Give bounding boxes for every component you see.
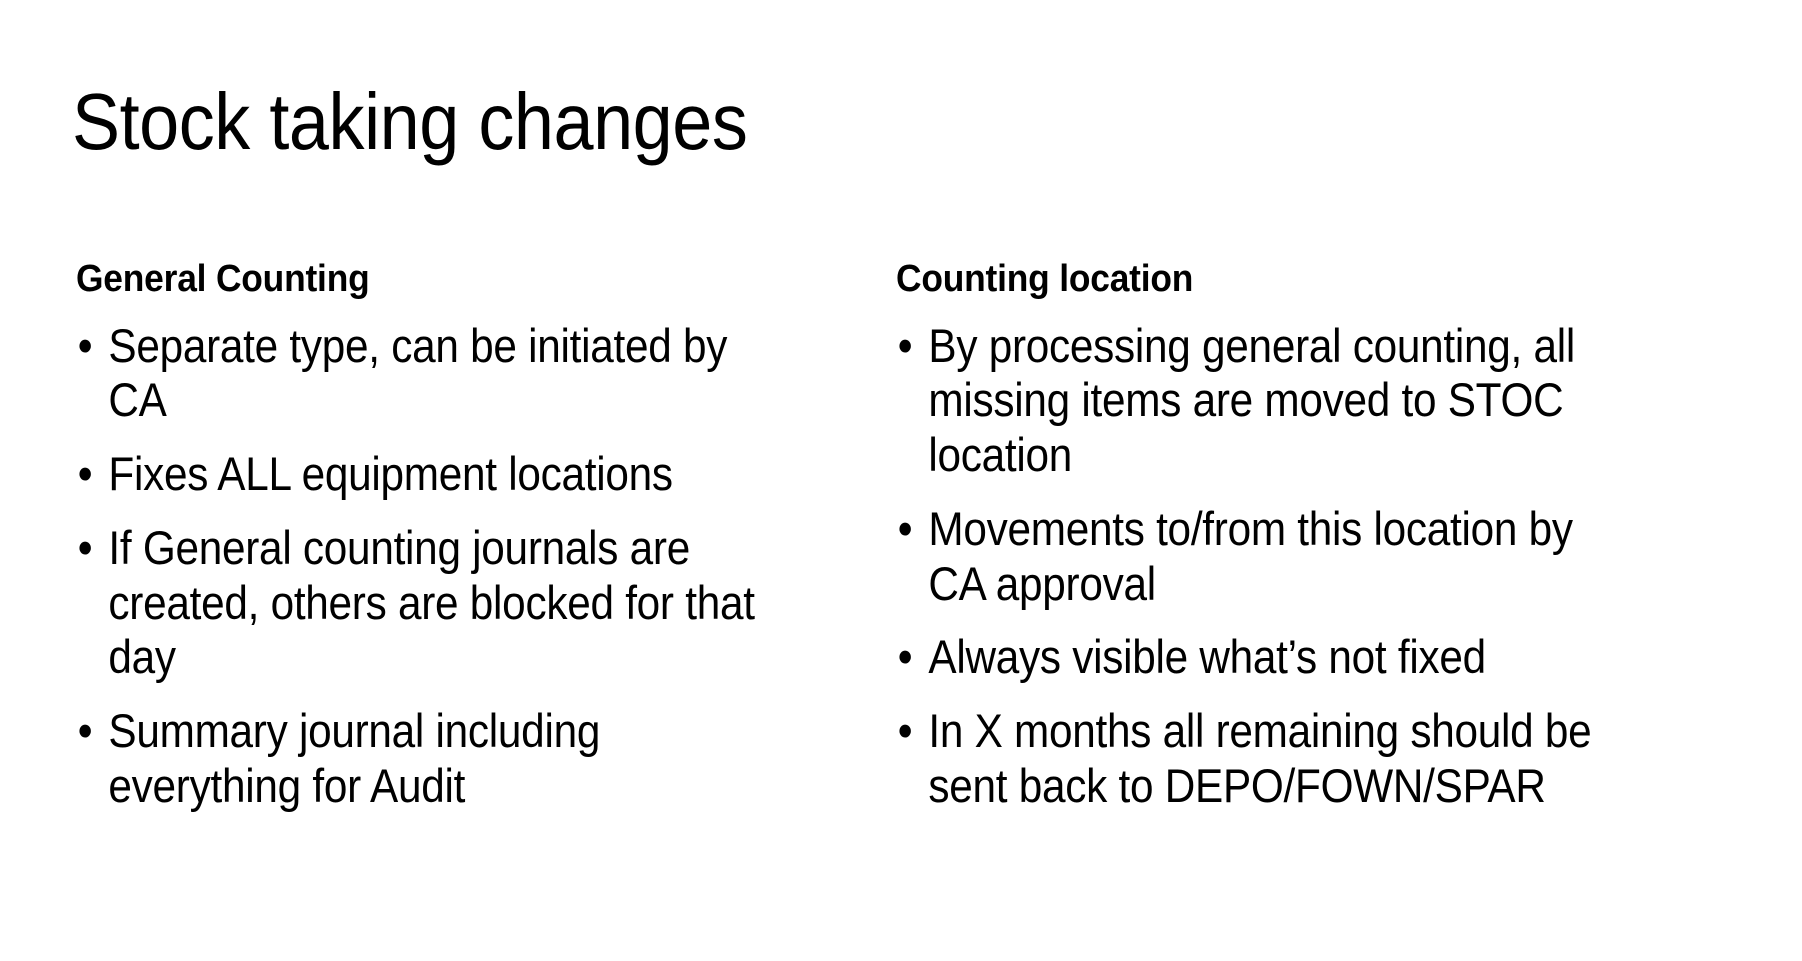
list-item-text: If General counting journals are created… bbox=[108, 521, 763, 685]
list-item: • In X months all remaining should be se… bbox=[896, 704, 1639, 814]
bullet-icon: • bbox=[78, 521, 93, 576]
column-counting-location: Counting location • By processing genera… bbox=[880, 258, 1780, 814]
column-header-general-counting: General Counting bbox=[76, 258, 787, 301]
list-item: • If General counting journals are creat… bbox=[76, 521, 764, 685]
slide-canvas: Stock taking changes General Counting • … bbox=[0, 0, 1802, 961]
list-item: • Fixes ALL equipment locations bbox=[76, 447, 764, 502]
list-item-text: Movements to/from this location by CA ap… bbox=[928, 502, 1639, 612]
bullet-icon: • bbox=[898, 630, 913, 685]
page-title: Stock taking changes bbox=[72, 80, 1566, 165]
bullet-icon: • bbox=[78, 704, 93, 759]
list-item: • By processing general counting, all mi… bbox=[896, 319, 1639, 483]
list-item-text: Separate type, can be initiated by CA bbox=[108, 319, 763, 429]
list-item-text: In X months all remaining should be sent… bbox=[928, 704, 1639, 814]
bullet-icon: • bbox=[898, 502, 913, 557]
bullet-icon: • bbox=[898, 704, 913, 759]
bullet-list-general-counting: • Separate type, can be initiated by CA … bbox=[76, 319, 840, 814]
list-item-text: Always visible what’s not fixed bbox=[928, 630, 1639, 685]
column-general-counting: General Counting • Separate type, can be… bbox=[0, 258, 880, 814]
bullet-icon: • bbox=[898, 319, 913, 374]
bullet-list-counting-location: • By processing general counting, all mi… bbox=[896, 319, 1750, 814]
bullet-icon: • bbox=[78, 447, 93, 502]
list-item-text: Summary journal including everything for… bbox=[108, 704, 763, 814]
content-columns: General Counting • Separate type, can be… bbox=[0, 258, 1802, 814]
column-header-counting-location: Counting location bbox=[896, 258, 1690, 301]
list-item: • Summary journal including everything f… bbox=[76, 704, 764, 814]
list-item-text: Fixes ALL equipment locations bbox=[108, 447, 763, 502]
bullet-icon: • bbox=[78, 319, 93, 374]
list-item: • Movements to/from this location by CA … bbox=[896, 502, 1639, 612]
list-item: • Separate type, can be initiated by CA bbox=[76, 319, 764, 429]
list-item: • Always visible what’s not fixed bbox=[896, 630, 1639, 685]
list-item-text: By processing general counting, all miss… bbox=[928, 319, 1639, 483]
